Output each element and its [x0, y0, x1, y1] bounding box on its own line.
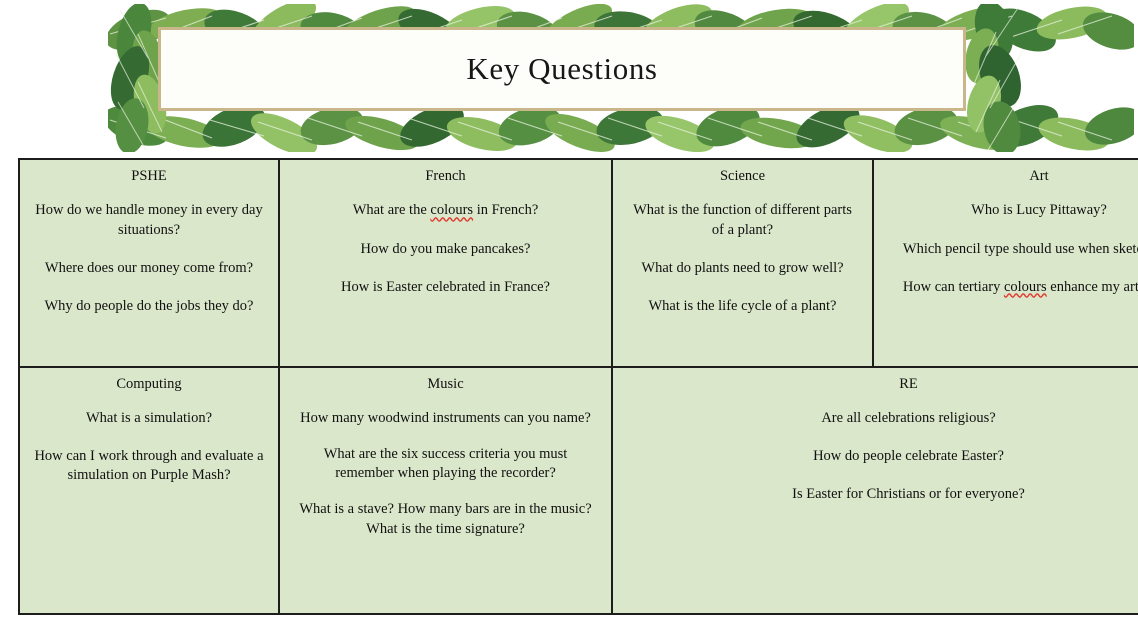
- cell-pshe[interactable]: PSHE How do we handle money in every day…: [19, 159, 279, 367]
- question-item: Where does our money come from?: [30, 259, 268, 278]
- question-item: How is Easter celebrated in France?: [290, 278, 601, 297]
- leaf-svg-right: [960, 4, 1032, 152]
- question-item: How many woodwind instruments can you na…: [290, 409, 601, 428]
- question-item: What is a stave? How many bars are in th…: [290, 500, 601, 538]
- subject-title: French: [290, 168, 601, 185]
- subject-title: Art: [884, 168, 1138, 185]
- cell-french[interactable]: French What are the colours in French? H…: [279, 159, 612, 367]
- subject-title: Computing: [30, 376, 268, 393]
- cell-music[interactable]: Music How many woodwind instruments can …: [279, 367, 612, 614]
- question-item: What is a simulation?: [30, 409, 268, 428]
- cell-science[interactable]: Science What is the function of differen…: [612, 159, 873, 367]
- misspelled-word: colours: [1004, 279, 1047, 295]
- subject-title: PSHE: [30, 168, 268, 185]
- question-item: What do plants need to grow well?: [623, 259, 862, 278]
- misspelled-word: colours: [430, 202, 473, 218]
- key-questions-table: PSHE How do we handle money in every day…: [18, 158, 1138, 615]
- question-item: Who is Lucy Pittaway?: [884, 201, 1138, 220]
- subject-title: RE: [623, 376, 1138, 393]
- table-row: PSHE How do we handle money in every day…: [19, 159, 1138, 367]
- question-item: How can tertiary colours enhance my artw…: [884, 278, 1138, 297]
- subject-title: Science: [623, 168, 862, 185]
- cell-re[interactable]: RE Are all celebrations religious? How d…: [612, 367, 1138, 614]
- question-item: Is Easter for Christians or for everyone…: [623, 485, 1138, 504]
- question-item: Are all celebrations religious?: [623, 409, 1138, 428]
- leaf-decoration-right: [960, 4, 1032, 152]
- header-banner: Key Questions: [0, 0, 1138, 152]
- cell-computing[interactable]: Computing What is a simulation? How can …: [19, 367, 279, 614]
- question-item: Which pencil type should use when sketch…: [884, 240, 1138, 259]
- question-item: Why do people do the jobs they do?: [30, 297, 268, 316]
- subject-title: Music: [290, 376, 601, 393]
- cell-art[interactable]: Art Who is Lucy Pittaway? Which pencil t…: [873, 159, 1138, 367]
- question-item: What is the life cycle of a plant?: [623, 297, 862, 316]
- question-item: What are the colours in French?: [290, 201, 601, 220]
- table-row: Computing What is a simulation? How can …: [19, 367, 1138, 614]
- title-plate: Key Questions: [158, 27, 966, 111]
- question-item: What is the function of different parts …: [623, 201, 862, 239]
- question-item: How do people celebrate Easter?: [623, 447, 1138, 466]
- question-item: How do we handle money in every day situ…: [30, 201, 268, 239]
- page-title: Key Questions: [466, 51, 657, 87]
- question-item: How do you make pancakes?: [290, 240, 601, 259]
- question-item: How can I work through and evaluate a si…: [30, 447, 268, 485]
- question-item: What are the six success criteria you mu…: [290, 445, 601, 483]
